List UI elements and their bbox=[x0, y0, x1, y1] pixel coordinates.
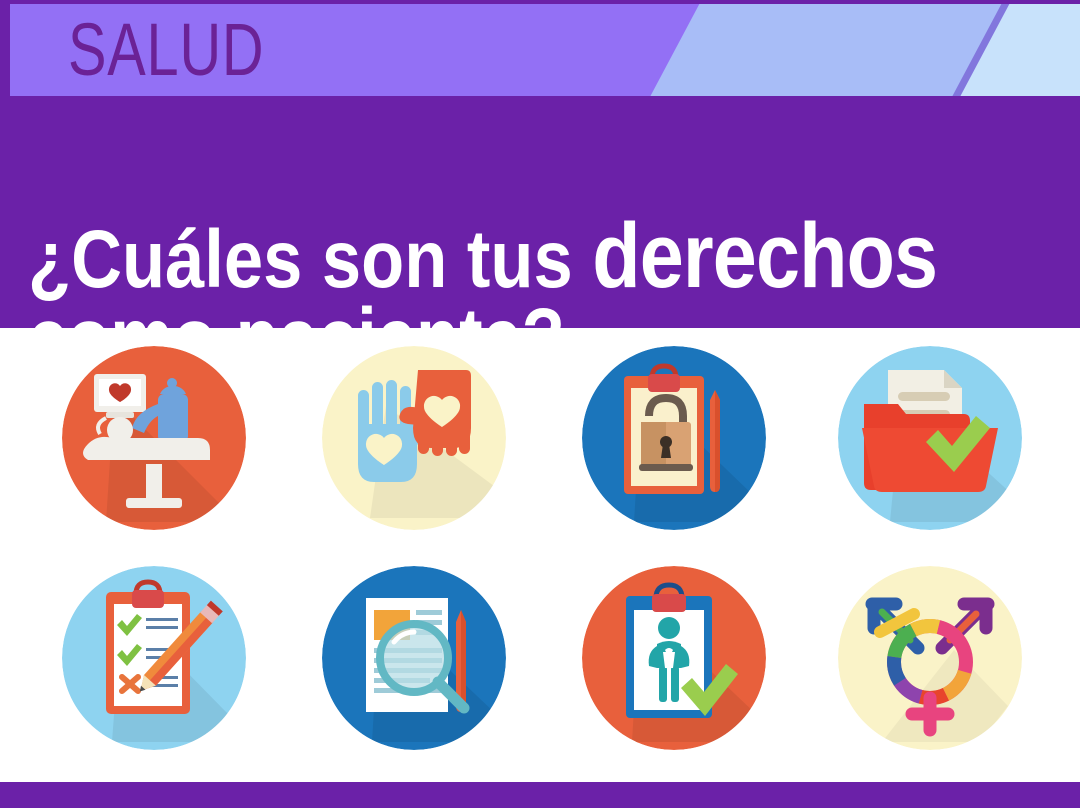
category-label: SALUD bbox=[68, 8, 264, 92]
icon-tile-patient-exam[interactable] bbox=[62, 346, 246, 530]
icon-tile-gender-identity[interactable] bbox=[838, 566, 1022, 750]
clipboard-checklist-pencil-icon bbox=[62, 566, 246, 750]
category-band: SALUD bbox=[0, 0, 1080, 96]
title-line-1: ¿Cuáles son tus derechos bbox=[28, 214, 937, 302]
title-band: ¿Cuáles son tus derechos como paciente? bbox=[0, 96, 1080, 328]
folder-document-check-icon bbox=[838, 346, 1022, 530]
icon-tile-caring-hands[interactable] bbox=[322, 346, 506, 530]
doctor-examining-patient-icon bbox=[62, 346, 246, 530]
icon-grid bbox=[0, 330, 1080, 782]
icon-tile-document-review[interactable] bbox=[322, 566, 506, 750]
infographic-page: SALUD ¿Cuáles son tus derechos como paci… bbox=[0, 0, 1080, 808]
icon-tile-privacy-lock[interactable] bbox=[582, 346, 766, 530]
title-text-heavy: derechos bbox=[592, 205, 937, 307]
icon-tile-records-approved[interactable] bbox=[838, 346, 1022, 530]
footer-bar bbox=[0, 782, 1080, 808]
category-band-inner: SALUD bbox=[10, 4, 1080, 96]
document-magnifier-pencil-icon bbox=[322, 566, 506, 750]
icon-tile-checklist[interactable] bbox=[62, 566, 246, 750]
clipboard-person-check-icon bbox=[582, 566, 766, 750]
two-hands-with-hearts-icon bbox=[322, 346, 506, 530]
icon-tile-patient-approved[interactable] bbox=[582, 566, 766, 750]
clipboard-padlock-icon bbox=[582, 346, 766, 530]
transgender-symbol-icon bbox=[838, 566, 1022, 750]
